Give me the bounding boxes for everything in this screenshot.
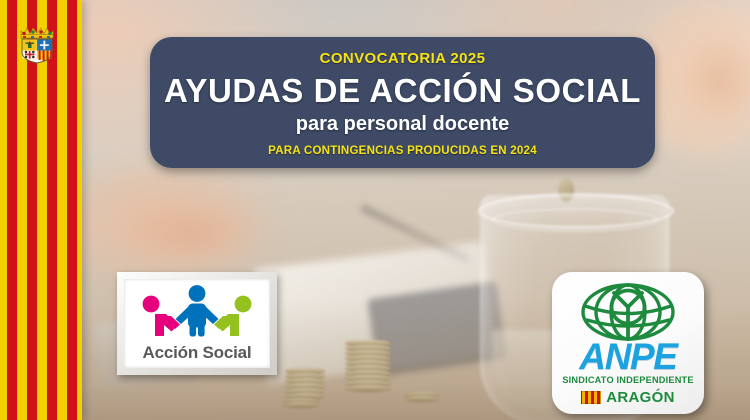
accion-social-label: Acción Social	[124, 343, 270, 363]
anpe-tagline: SINDICATO INDEPENDIENTE	[552, 375, 704, 385]
anpe-globe-icon	[576, 279, 680, 341]
aragon-flag-icon	[581, 391, 601, 404]
three-people-holding-hands-icon	[137, 285, 257, 337]
aragon-flag-stripe	[0, 0, 82, 420]
anpe-logo: ANPE SINDICATO INDEPENDIENTE ARAGÓN	[552, 272, 704, 414]
anpe-region-row: ARAGÓN	[552, 389, 704, 406]
photo-hand-fingers	[665, 20, 750, 140]
banner-subtitle: para personal docente	[296, 113, 509, 136]
poster-root: CONVOCATORIA 2025 AYUDAS DE ACCIÓN SOCIA…	[0, 0, 750, 420]
accion-social-logo-canvas: Acción Social	[124, 279, 270, 368]
anpe-region-label: ARAGÓN	[606, 389, 674, 406]
page-title: AYUDAS DE ACCIÓN SOCIAL	[164, 74, 641, 109]
banner-footnote: PARA CONTINGENCIAS PRODUCIDAS EN 2024	[268, 145, 537, 157]
aragon-coat-of-arms-icon	[15, 22, 59, 64]
photo-jar-neck	[492, 208, 658, 232]
banner-kicker: CONVOCATORIA 2025	[320, 50, 486, 67]
title-banner: CONVOCATORIA 2025 AYUDAS DE ACCIÓN SOCIA…	[150, 37, 655, 168]
accion-social-logo: Acción Social	[117, 272, 277, 375]
anpe-wordmark: ANPE	[552, 338, 704, 375]
